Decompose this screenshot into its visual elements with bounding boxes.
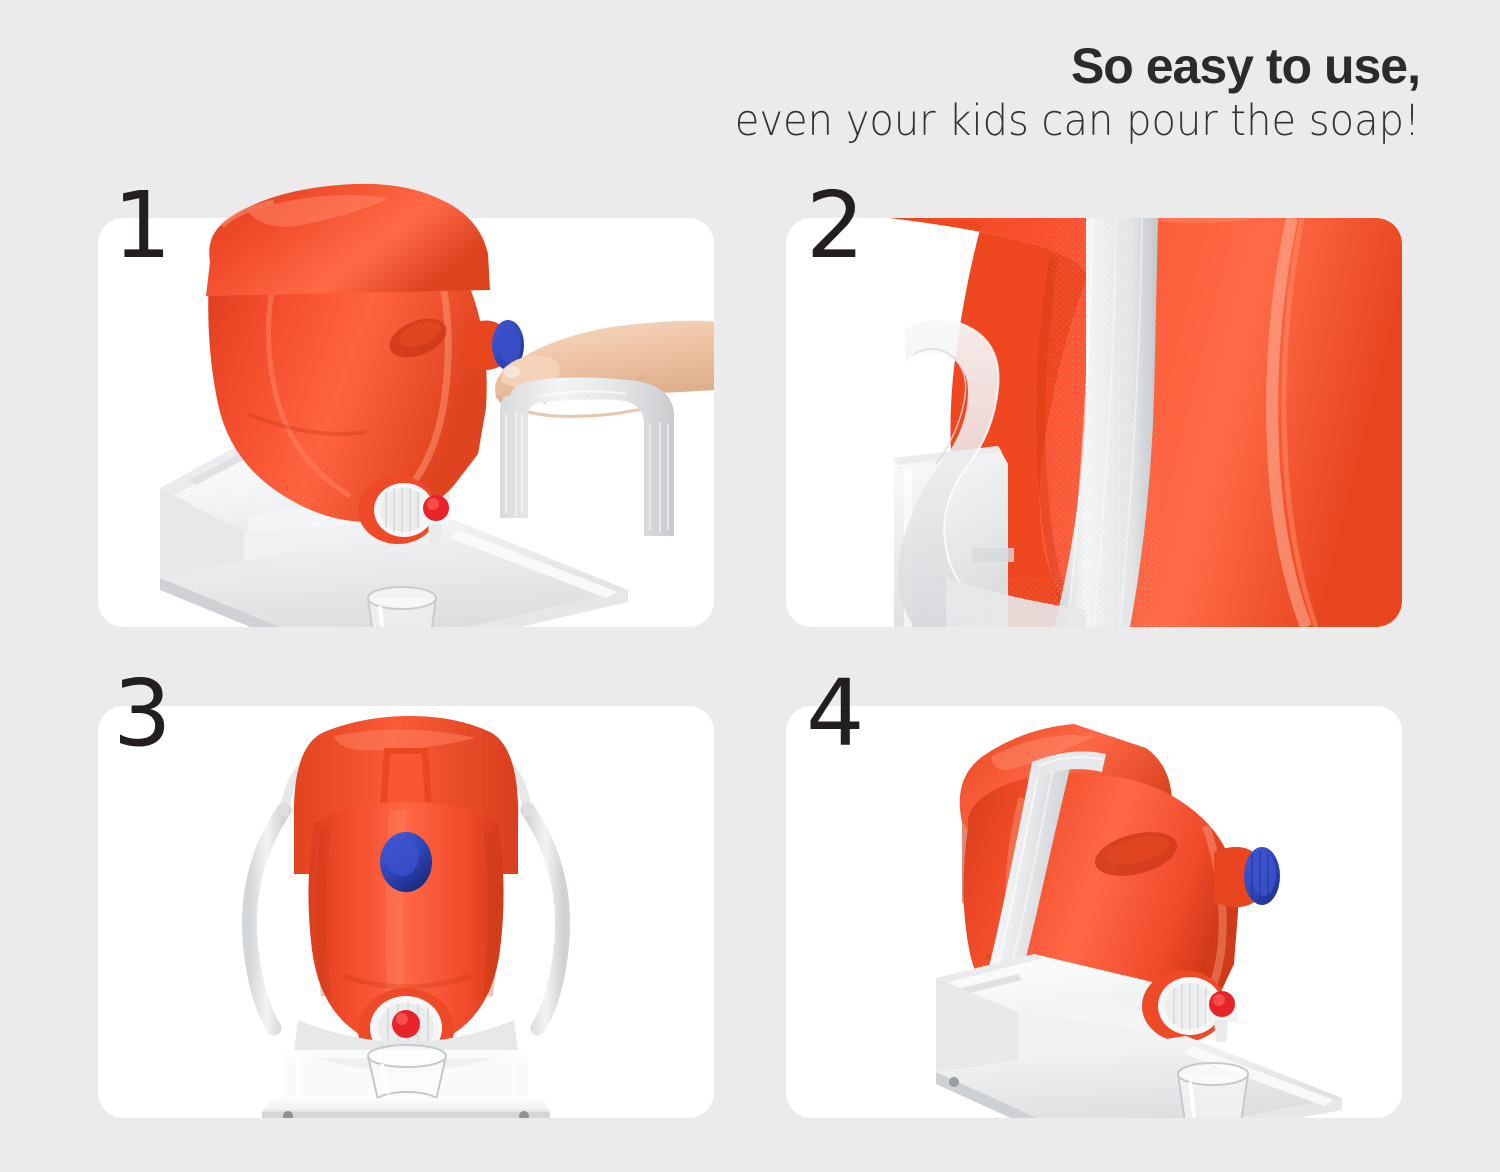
step-4-illustration [786,706,1402,1118]
step-number-3: 3 [113,668,172,760]
step-number-1: 1 [113,180,172,272]
headline-block: So easy to use, even your kids can pour … [520,40,1420,145]
step-number-4: 4 [806,668,865,760]
step-2-illustration [786,218,1402,627]
step-panel-4 [786,706,1402,1118]
step-panel-2 [786,218,1402,627]
infographic-stage: So easy to use, even your kids can pour … [0,0,1500,1172]
page-title: So easy to use, [520,40,1420,93]
step-1-illustration [98,218,714,627]
step-panel-1 [98,218,714,627]
step-number-2: 2 [806,180,865,272]
page-subtitle: even your kids can pour the soap! [583,97,1420,145]
step-3-illustration [98,706,714,1118]
step-panel-3 [98,706,714,1118]
